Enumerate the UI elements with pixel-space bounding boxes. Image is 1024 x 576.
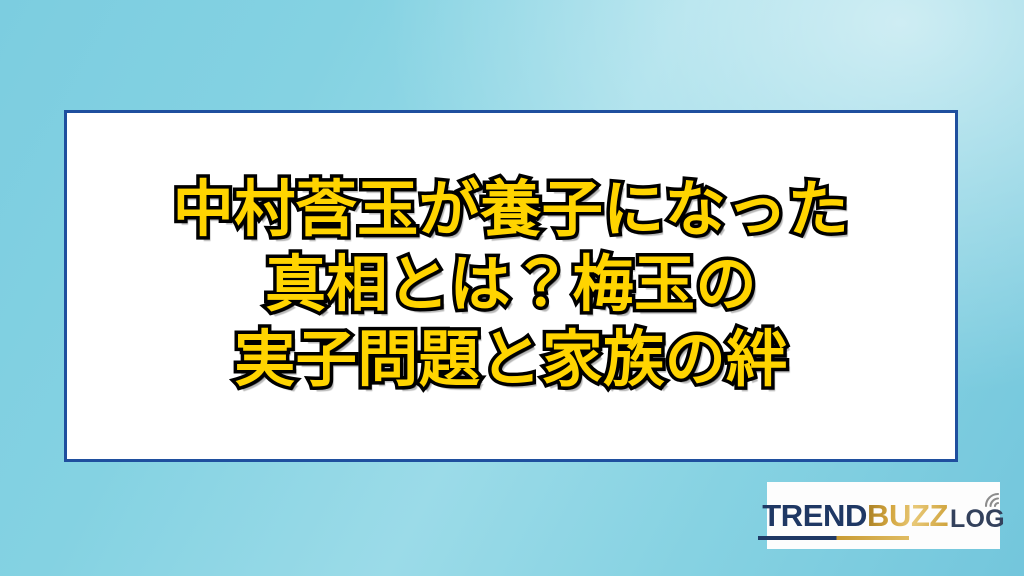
headline-line-1: 中村莟玉が養子になった bbox=[67, 174, 955, 249]
logo-underline-bar bbox=[758, 536, 909, 540]
logo-word-trend: TREND bbox=[762, 498, 867, 534]
headline-line-2: 真相とは？梅玉の bbox=[67, 249, 955, 324]
headline-card: 中村莟玉が養子になった 真相とは？梅玉の 実子問題と家族の絆 bbox=[64, 110, 958, 462]
thumbnail-canvas: 中村莟玉が養子になった 真相とは？梅玉の 実子問題と家族の絆 TRENDBUZZ… bbox=[0, 0, 1024, 576]
headline-line-3: 実子問題と家族の絆 bbox=[67, 324, 955, 399]
brand-logo: TRENDBUZZLOG bbox=[758, 498, 1009, 534]
logo-word-buzz: BUZZ bbox=[867, 498, 948, 534]
logo-word-log: LOG bbox=[948, 505, 1005, 534]
brand-logo-card: TRENDBUZZLOG bbox=[767, 482, 1000, 549]
wifi-signal-icon bbox=[981, 483, 1007, 509]
headline-text-block: 中村莟玉が養子になった 真相とは？梅玉の 実子問題と家族の絆 bbox=[67, 174, 955, 399]
